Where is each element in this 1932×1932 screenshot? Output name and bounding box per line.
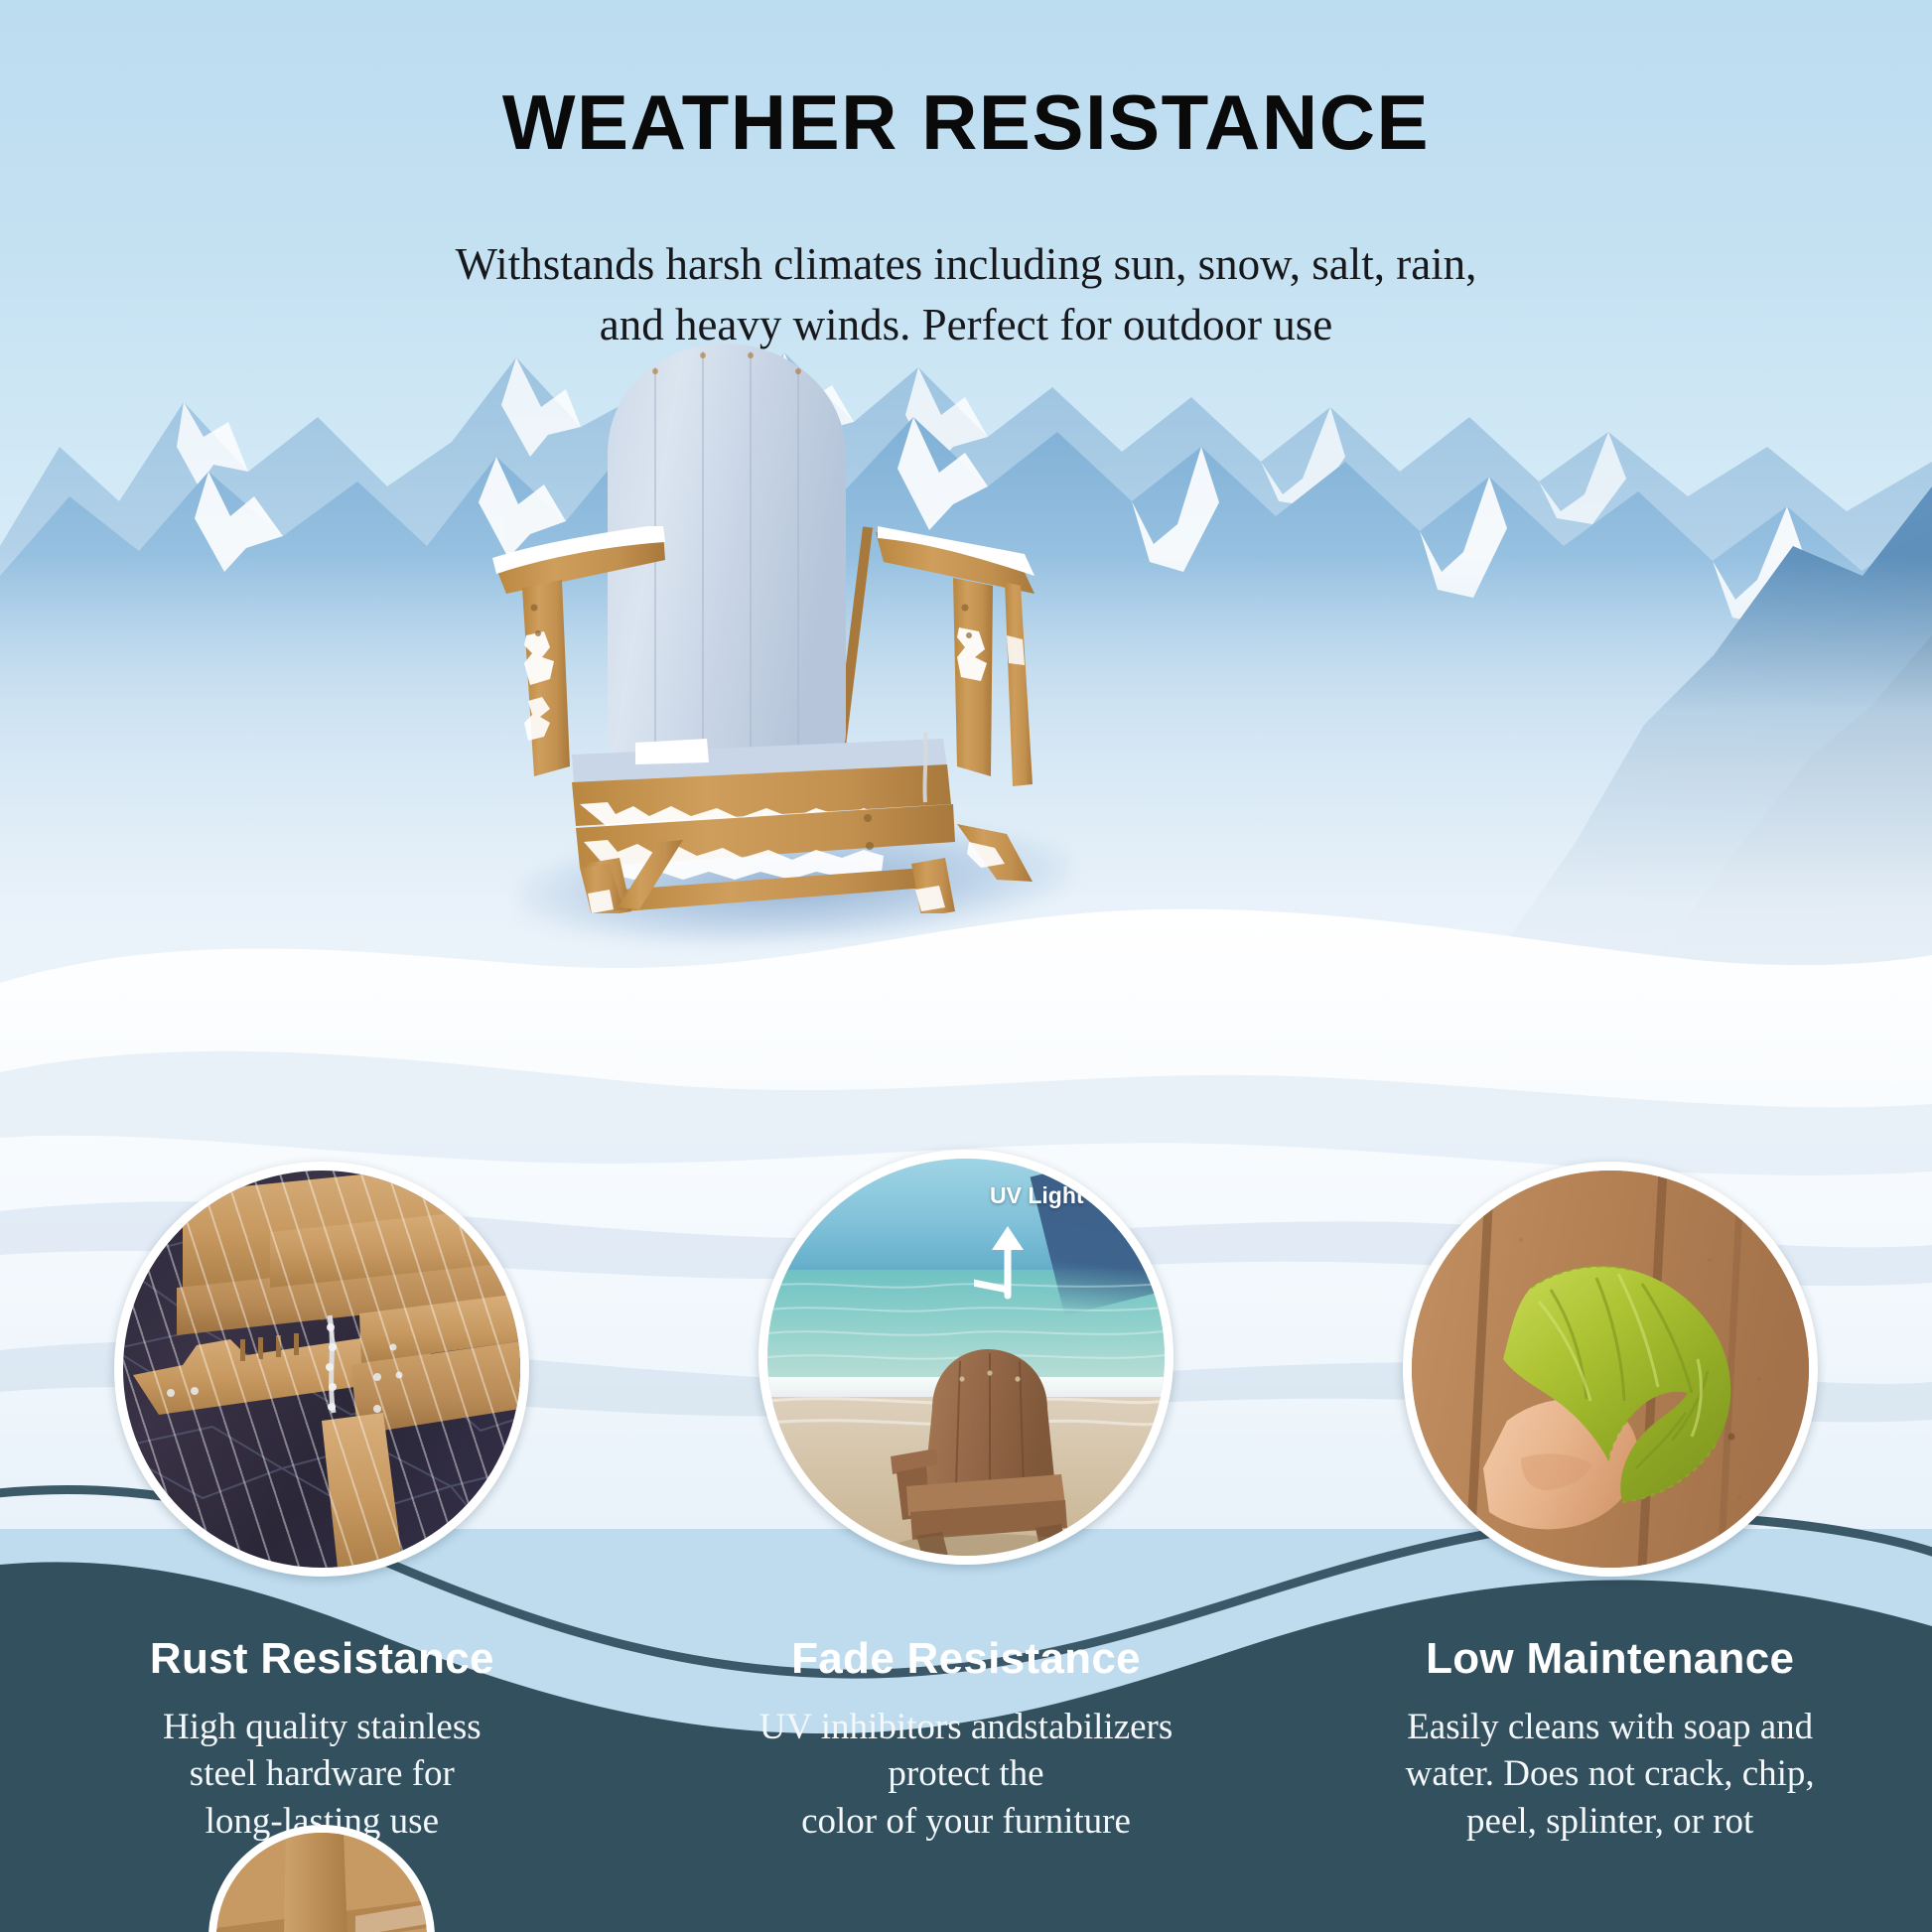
feature-image-fade-resistance[interactable]: UV Light xyxy=(759,1150,1173,1565)
subtitle-line-1: Withstands harsh climates including sun,… xyxy=(0,234,1932,295)
feature-desc-low-maintenance: Easily cleans with soap and water. Does … xyxy=(1288,1704,1932,1845)
feature-image-low-maintenance[interactable] xyxy=(1403,1162,1818,1577)
subtitle-line-2: and heavy winds. Perfect for outdoor use xyxy=(0,295,1932,355)
page-subtitle: Withstands harsh climates including sun,… xyxy=(0,234,1932,355)
feature-title-low-maintenance: Low Maintenance xyxy=(1288,1634,1932,1684)
feature-low-maintenance: Low Maintenance Easily cleans with soap … xyxy=(1288,1172,1932,1932)
page-title: WEATHER RESISTANCE xyxy=(0,83,1932,161)
feature-fade-resistance: UV Light Fade Resistance UV inhibitors a… xyxy=(644,1172,1289,1932)
infographic-canvas: WEATHER RESISTANCE Withstands harsh clim… xyxy=(0,0,1932,1932)
feature-title-rust-resistance: Rust Resistance xyxy=(0,1634,644,1684)
feature-rust-resistance: Rust Resistance High quality stainless s… xyxy=(0,1172,644,1932)
feature-desc-fade-resistance: UV inhibitors andstabilizers protect the… xyxy=(644,1704,1289,1845)
desc-line: water. Does not crack, chip, xyxy=(1288,1750,1932,1797)
feature-image-rust-resistance[interactable] xyxy=(114,1162,529,1577)
uv-light-label: UV Light xyxy=(990,1182,1084,1209)
feature-columns: Rust Resistance High quality stainless s… xyxy=(0,1172,1932,1932)
feature-desc-rust-resistance: High quality stainless steel hardware fo… xyxy=(0,1704,644,1845)
uv-arrow-icon xyxy=(974,1218,1059,1304)
feature-title-fade-resistance: Fade Resistance xyxy=(644,1634,1289,1684)
desc-line: color of your furniture xyxy=(644,1798,1289,1845)
rain-overlay xyxy=(114,1162,529,1577)
desc-line: peel, splinter, or rot xyxy=(1288,1798,1932,1845)
desc-line: UV inhibitors andstabilizers xyxy=(644,1704,1289,1750)
desc-line: steel hardware for xyxy=(0,1750,644,1797)
adirondack-chair-snow xyxy=(477,338,1092,913)
desc-line: Easily cleans with soap and xyxy=(1288,1704,1932,1750)
desc-line: protect the xyxy=(644,1750,1289,1797)
desc-line: High quality stainless xyxy=(0,1704,644,1750)
